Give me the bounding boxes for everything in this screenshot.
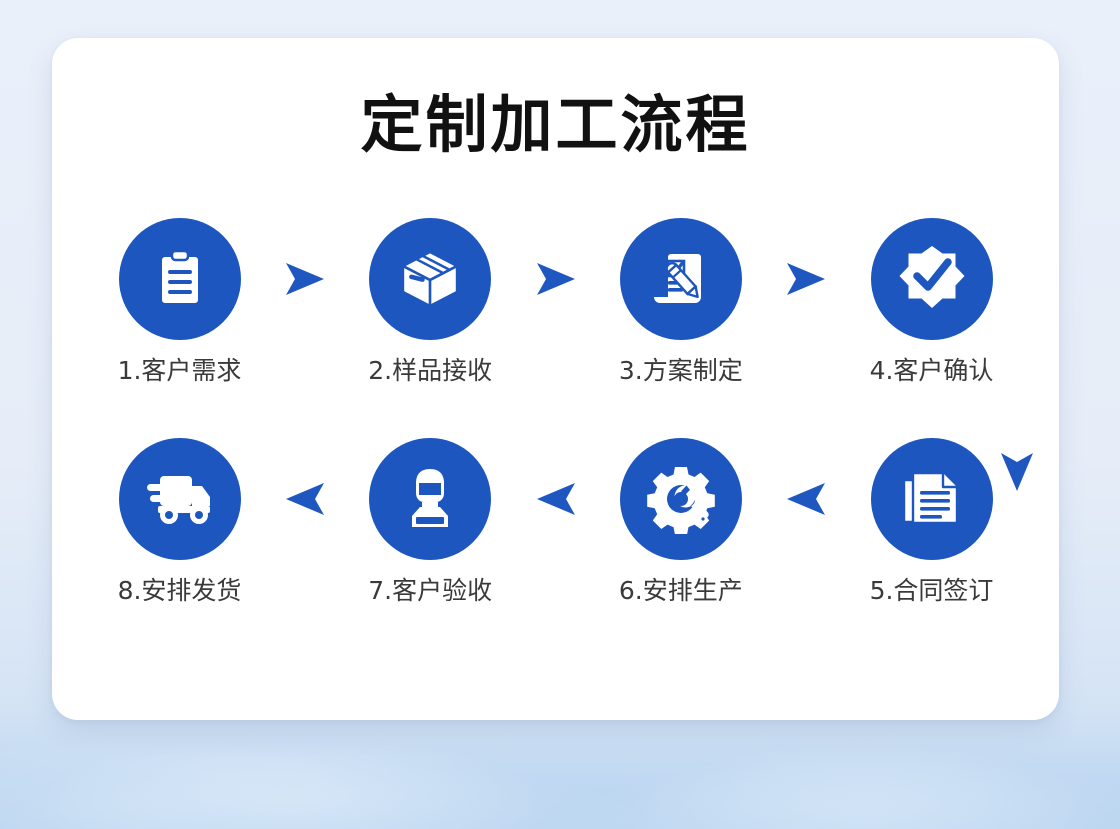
flow-step-6[interactable]: 6.安排生产: [609, 438, 752, 605]
page-title: 定制加工流程: [52, 94, 1059, 156]
flow-step-7[interactable]: 7.客户验收: [359, 438, 502, 605]
flow-step-5[interactable]: 5.合同签订: [860, 438, 1003, 605]
clipboard-icon: [148, 247, 212, 311]
process-card: 定制加工流程 1.客户需求: [52, 38, 1059, 720]
flow-step-2-icon-circle: [369, 218, 491, 340]
flow-step-6-label: 6.安排生产: [619, 577, 743, 605]
arrow-right-icon: [783, 259, 829, 299]
gear-wrench-icon: [646, 464, 716, 534]
flow-step-7-label: 7.客户验收: [368, 577, 492, 605]
flow-row-top: 1.客户需求: [108, 218, 1003, 418]
star-badge-check-icon: [896, 243, 968, 315]
flow-step-5-icon-circle: [871, 438, 993, 560]
arrow-left-icon: [282, 479, 328, 519]
flow-step-5-label: 5.合同签订: [870, 577, 994, 605]
flow-step-1-label: 1.客户需求: [118, 357, 242, 385]
flow-arrow-3-to-4: [752, 218, 860, 340]
flow-arrow-7-to-8: [251, 438, 359, 560]
flow-step-8-icon-circle: [119, 438, 241, 560]
flow-step-2-label: 2.样品接收: [368, 357, 492, 385]
arrow-right-icon: [282, 259, 328, 299]
flow-step-7-icon-circle: [369, 438, 491, 560]
delivery-truck-icon: [144, 468, 216, 530]
flow-step-4[interactable]: 4.客户确认: [860, 218, 1003, 385]
document-pencil-icon: [648, 246, 714, 312]
flow-arrow-6-to-7: [502, 438, 610, 560]
flow-arrow-5-to-6: [752, 438, 860, 560]
flow-row-bottom: 8.安排发货: [108, 438, 1003, 638]
stamp-inspector-icon: [398, 466, 462, 532]
arrow-right-icon: [533, 259, 579, 299]
background-haze: [0, 709, 1120, 829]
flow-step-4-label: 4.客户确认: [870, 357, 994, 385]
flow-step-2[interactable]: 2.样品接收: [359, 218, 502, 385]
flow-step-8-label: 8.安排发货: [118, 577, 242, 605]
flow-step-3-icon-circle: [620, 218, 742, 340]
arrow-left-icon: [533, 479, 579, 519]
flow-step-1-icon-circle: [119, 218, 241, 340]
flow-step-4-icon-circle: [871, 218, 993, 340]
stacked-documents-icon: [899, 466, 965, 532]
flow-arrow-1-to-2: [251, 218, 359, 340]
flow-arrow-2-to-3: [502, 218, 610, 340]
arrow-left-icon: [783, 479, 829, 519]
flow-step-3-label: 3.方案制定: [619, 357, 743, 385]
flow-step-1[interactable]: 1.客户需求: [108, 218, 251, 385]
flow-step-3[interactable]: 3.方案制定: [609, 218, 752, 385]
package-box-icon: [397, 246, 463, 312]
flow-step-8[interactable]: 8.安排发货: [108, 438, 251, 605]
flow-step-6-icon-circle: [620, 438, 742, 560]
